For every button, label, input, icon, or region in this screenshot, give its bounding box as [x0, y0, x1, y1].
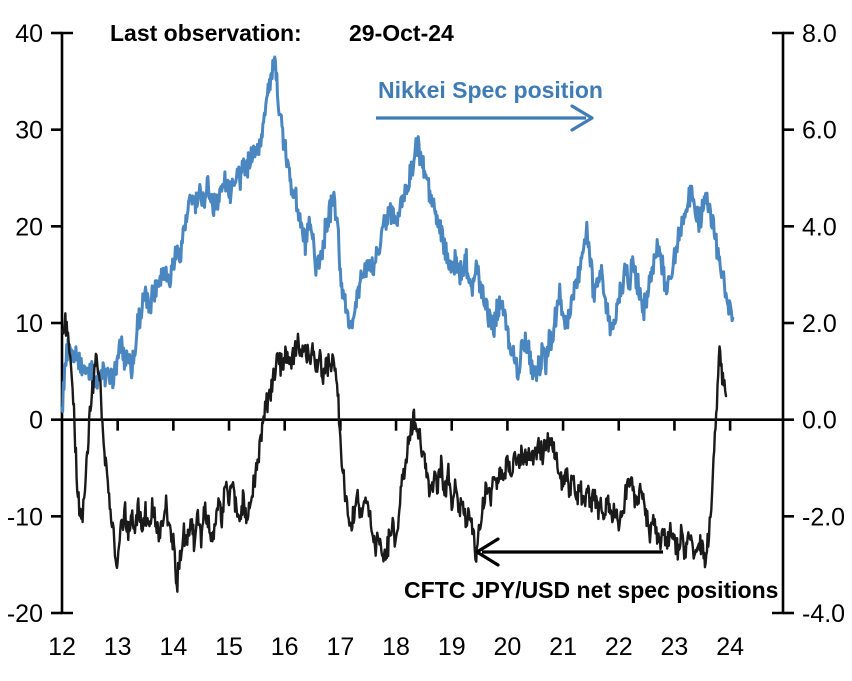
x-axis-tick-label: 19	[438, 633, 466, 661]
left-axis-tick-label: 0	[29, 407, 43, 435]
left-axis-tick-label: 40	[15, 20, 43, 48]
x-axis-tick-label: 18	[382, 633, 410, 661]
x-axis-tick-label: 20	[493, 633, 521, 661]
x-axis-tick-label: 15	[215, 633, 243, 661]
x-axis-tick-label: 17	[326, 633, 354, 661]
right-axis-tick-label: -2.0	[802, 503, 845, 531]
last-observation-value: 29-Oct-24	[349, 20, 454, 46]
left-axis-tick-label: 10	[15, 310, 43, 338]
x-axis-tick-label: 13	[104, 633, 132, 661]
left-axis-tick-label: -20	[7, 600, 43, 628]
right-axis-tick-label: -4.0	[802, 600, 845, 628]
right-axis-tick-label: 8.0	[802, 20, 837, 48]
x-axis-tick-label: 22	[605, 633, 633, 661]
right-axis-tick-label: 6.0	[802, 117, 837, 145]
left-axis-tick-label: -10	[7, 503, 43, 531]
left-axis-tick-label: 30	[15, 117, 43, 145]
right-axis-tick-label: 0.0	[802, 407, 837, 435]
last-observation-label: Last observation:	[110, 20, 302, 46]
x-axis-tick-label: 16	[271, 633, 299, 661]
right-axis-tick-label: 4.0	[802, 213, 837, 241]
x-axis-tick-label: 21	[549, 633, 577, 661]
chart-container: 403020100-10-20 8.06.04.02.00.0-2.0-4.0 …	[0, 0, 852, 681]
x-axis-tick-label: 23	[661, 633, 689, 661]
nikkei-annotation-label: Nikkei Spec position	[378, 77, 603, 103]
x-axis-tick-label: 24	[716, 633, 744, 661]
cftc-annotation-label: CFTC JPY/USD net spec positions	[404, 577, 778, 603]
right-axis-tick-label: 2.0	[802, 310, 837, 338]
left-axis-tick-label: 20	[15, 213, 43, 241]
x-axis-tick-label: 12	[48, 633, 76, 661]
x-axis-tick-label: 14	[159, 633, 187, 661]
chart-svg: 403020100-10-20 8.06.04.02.00.0-2.0-4.0 …	[0, 0, 852, 681]
